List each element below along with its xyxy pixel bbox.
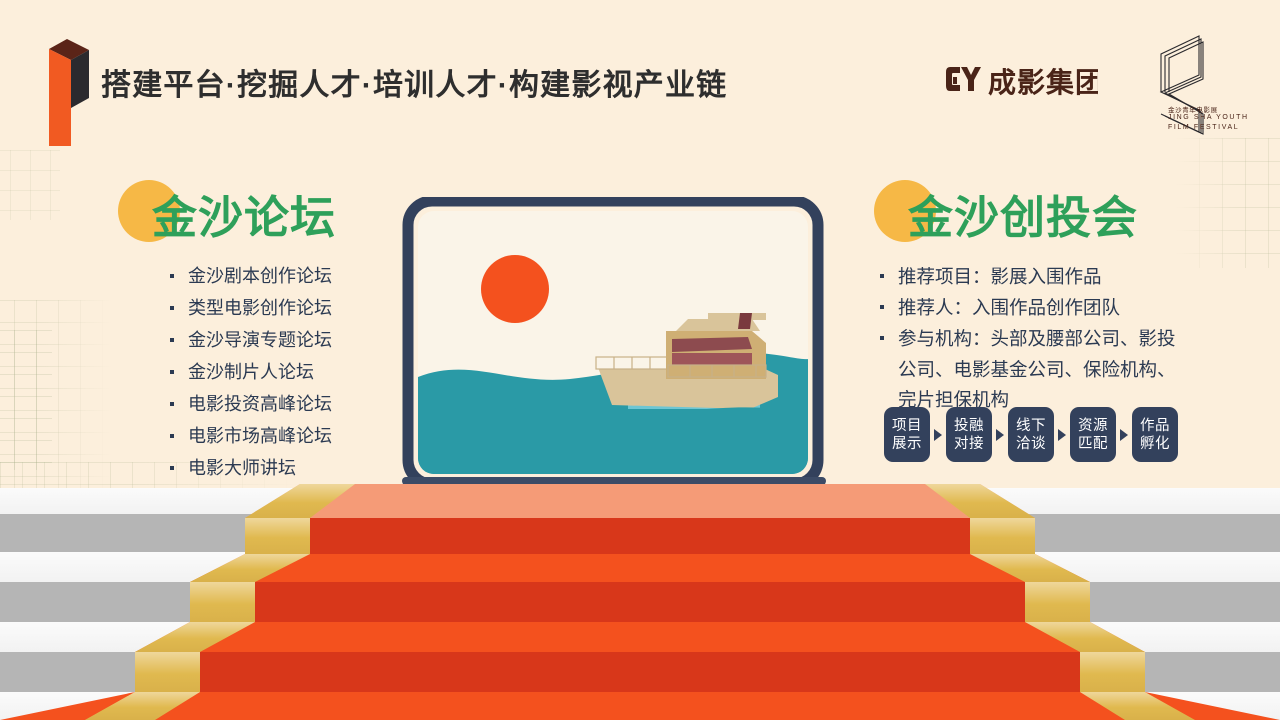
list-item: 金沙剧本创作论坛 — [166, 262, 410, 290]
grid-texture-top-left — [0, 150, 60, 220]
step-arrow-icon — [1120, 429, 1128, 441]
step-line-1: 投融 — [954, 417, 984, 435]
step-line-2: 对接 — [954, 435, 984, 453]
poster-canvas: 搭建平台·挖掘人才·培训人才·构建影视产业链 成影集团 金沙青年电影展 JING… — [0, 0, 1280, 720]
step-arrow-icon — [934, 429, 942, 441]
logo-chengying-group: 成影集团 — [946, 57, 1098, 101]
left-section-header: 金沙论坛 — [110, 178, 410, 250]
step-line-2: 匹配 — [1078, 435, 1108, 453]
bookmark-3d-icon — [49, 36, 99, 146]
list-item: 金沙导演专题论坛 — [166, 326, 410, 354]
list-item: 参与机构：头部及腰部公司、影投 — [876, 324, 1213, 354]
right-section-title: 金沙创投会 — [908, 181, 1138, 246]
list-item: 金沙制片人论坛 — [166, 358, 410, 386]
right-section-header: 金沙创投会 — [868, 178, 1213, 250]
step-line-1: 资源 — [1078, 417, 1108, 435]
festival-name-cn: 金沙青年电影展 — [1168, 104, 1218, 114]
step-line-1: 作品 — [1140, 417, 1170, 435]
step-line-1: 线下 — [1016, 417, 1046, 435]
list-item: 推荐人：入围作品创作团队 — [876, 293, 1213, 323]
step-line-2: 展示 — [892, 435, 922, 453]
step-badge-5[interactable]: 作品 孵化 — [1132, 407, 1178, 462]
laptop-illustration — [400, 197, 848, 497]
step-arrow-icon — [996, 429, 1004, 441]
festival-name-en2: FILM FESTIVAL — [1168, 124, 1239, 131]
step-badge-1[interactable]: 项目 展示 — [884, 407, 930, 462]
header: 搭建平台·挖掘人才·培训人才·构建影视产业链 成影集团 金沙青年电影展 JING… — [0, 0, 1280, 140]
step-line-2: 洽谈 — [1016, 435, 1046, 453]
step-line-1: 项目 — [892, 417, 922, 435]
red-carpet-staircase — [0, 470, 1280, 720]
list-item-text: 参与机构：头部及腰部公司、影投 — [898, 328, 1176, 349]
process-steps: 项目 展示 投融 对接 线下 洽谈 资源 匹配 作品 孵化 — [884, 407, 1178, 462]
festival-name-en1: JING SHA YOUTH — [1168, 114, 1249, 121]
svg-text:成影集团: 成影集团 — [988, 66, 1098, 99]
investment-list: 推荐项目：影展入围作品 推荐人：入围作品创作团队 参与机构：头部及腰部公司、影投 — [876, 262, 1213, 354]
festival-zigzag-icon — [1147, 32, 1237, 137]
list-item-continuation: 公司、电影基金公司、保险机构、 — [876, 355, 1213, 385]
forum-list: 金沙剧本创作论坛 类型电影创作论坛 金沙导演专题论坛 金沙制片人论坛 电影投资高… — [166, 262, 410, 482]
page-title: 搭建平台·挖掘人才·培训人才·构建影视产业链 — [101, 60, 727, 104]
sun-shape — [481, 255, 549, 323]
list-item: 电影投资高峰论坛 — [166, 390, 410, 418]
step-badge-4[interactable]: 资源 匹配 — [1070, 407, 1116, 462]
step-arrow-icon — [1058, 429, 1066, 441]
left-section-title: 金沙论坛 — [152, 181, 336, 246]
step-line-2: 孵化 — [1140, 435, 1170, 453]
grid-texture-left-dense — [0, 330, 52, 470]
list-item: 推荐项目：影展入围作品 — [876, 262, 1213, 292]
section-jinsha-investment: 金沙创投会 推荐项目：影展入围作品 推荐人：入围作品创作团队 参与机构：头部及腰… — [868, 178, 1213, 415]
section-jinsha-forum: 金沙论坛 金沙剧本创作论坛 类型电影创作论坛 金沙导演专题论坛 金沙制片人论坛 … — [110, 178, 410, 486]
list-item: 电影市场高峰论坛 — [166, 422, 410, 450]
step-badge-2[interactable]: 投融 对接 — [946, 407, 992, 462]
list-item: 类型电影创作论坛 — [166, 294, 410, 322]
step-badge-3[interactable]: 线下 洽谈 — [1008, 407, 1054, 462]
